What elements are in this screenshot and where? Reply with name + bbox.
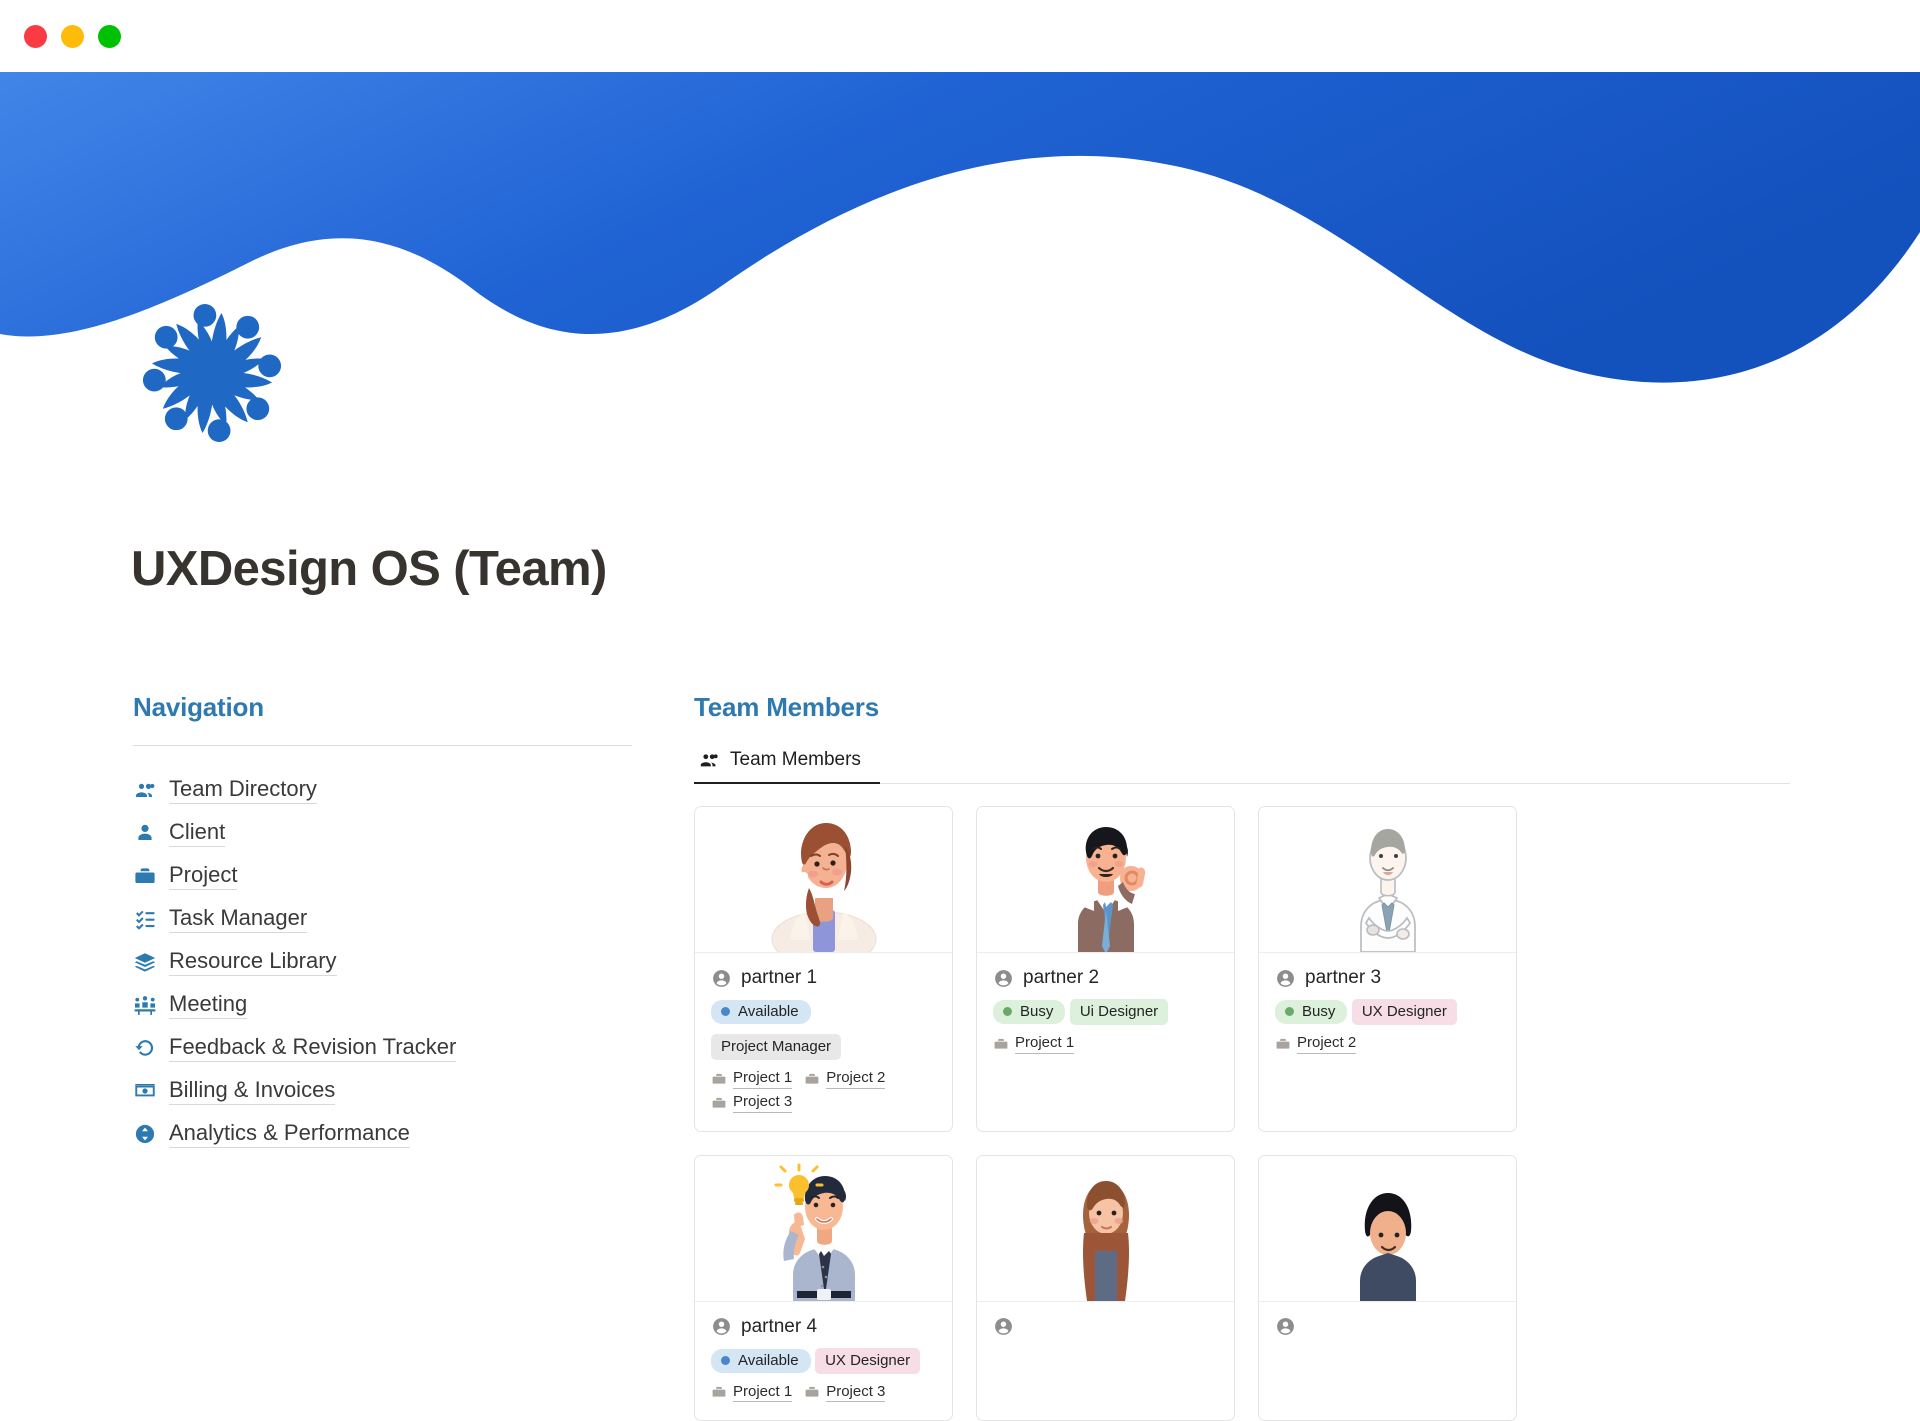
member-name: partner 1 [741,967,817,989]
person-icon [133,821,157,845]
sidebar-item-label: Meeting [169,990,247,1020]
status-dot [1003,1007,1012,1016]
project-links: Project 2 [1275,1034,1500,1054]
status-label: Available [738,1003,799,1020]
man-lightbulb-idea-avatar-icon [749,1155,899,1301]
checklist-icon [133,907,157,931]
project-links: Project 1 [993,1034,1218,1054]
member-card[interactable] [976,1155,1235,1421]
tab-label: Team Members [730,749,861,771]
sidebar-item-label: Team Directory [169,775,317,805]
navigation-heading: Navigation [133,692,633,723]
account-circle-icon [711,1316,732,1337]
account-circle-icon [1275,968,1296,989]
member-identity: partner 4 [711,1316,936,1338]
member-card-body: partner 1 Available Project Manager Proj… [695,953,952,1131]
member-card-body [977,1302,1234,1355]
member-name: partner 2 [1023,967,1099,989]
performance-circle-icon [133,1122,157,1146]
account-circle-icon [1275,1316,1296,1337]
sidebar-item-label: Project [169,861,237,891]
member-name: partner 4 [741,1316,817,1338]
member-card-grid: partner 1 Available Project Manager Proj… [694,806,1790,1421]
status-dot [1285,1007,1294,1016]
role-label: UX Designer [1362,1003,1447,1020]
project-link[interactable]: Project 2 [804,1069,885,1089]
role-label: UX Designer [825,1352,910,1369]
status-badge: Busy [993,1000,1065,1024]
member-card[interactable] [1258,1155,1517,1421]
meeting-table-icon [133,993,157,1017]
project-link-label: Project 1 [1015,1034,1074,1054]
member-card-body: partner 4 Available UX Designer Project … [695,1302,952,1421]
sidebar-item-resource-library[interactable]: Resource Library [133,940,633,983]
status-dot [721,1356,730,1365]
close-button[interactable] [24,25,47,48]
member-identity: partner 1 [711,967,936,989]
banknote-icon [133,1079,157,1103]
project-link[interactable]: Project 1 [993,1034,1074,1054]
avatar [695,1156,952,1302]
project-link-label: Project 1 [733,1383,792,1403]
tab-bar: Team Members [694,743,1790,784]
role-label: Project Manager [721,1038,831,1055]
status-label: Available [738,1352,799,1369]
role-tag: Project Manager [711,1034,841,1060]
member-name: partner 3 [1305,967,1381,989]
sidebar-item-label: Resource Library [169,947,337,977]
sidebar-item-label: Analytics & Performance [169,1119,410,1149]
navigation-panel: Navigation Team Directory Client Project [133,692,633,1155]
member-card-body: partner 2 Busy Ui Designer Project 1 [977,953,1234,1072]
avatar [1259,1156,1516,1302]
member-identity: partner 2 [993,967,1218,989]
sidebar-item-client[interactable]: Client [133,811,633,854]
tab-active-indicator [694,782,880,784]
team-members-panel: Team Members Team Members [694,692,1790,1421]
member-identity [1275,1316,1500,1337]
member-card[interactable]: partner 2 Busy Ui Designer Project 1 [976,806,1235,1132]
role-tag: UX Designer [1352,999,1457,1025]
status-dot [721,1007,730,1016]
member-card-body: partner 3 Busy UX Designer Project 2 [1259,953,1516,1072]
project-link[interactable]: Project 3 [804,1383,885,1403]
project-links: Project 1Project 3 [711,1383,936,1403]
sidebar-item-feedback-revision-tracker[interactable]: Feedback & Revision Tracker [133,1026,633,1069]
account-circle-icon [711,968,732,989]
sidebar-item-label: Task Manager [169,904,307,934]
project-link-label: Project 2 [1297,1034,1356,1054]
sidebar-item-task-manager[interactable]: Task Manager [133,897,633,940]
status-label: Busy [1020,1003,1053,1020]
avatar [1259,807,1516,953]
project-link-label: Project 3 [733,1093,792,1113]
account-circle-icon [993,968,1014,989]
zoom-button[interactable] [98,25,121,48]
avatar [977,807,1234,953]
project-link-label: Project 1 [733,1069,792,1089]
member-card-body [1259,1302,1516,1355]
man-ok-gesture-avatar-icon [1031,806,1181,952]
sidebar-item-label: Client [169,818,225,848]
member-card[interactable]: partner 1 Available Project Manager Proj… [694,806,953,1132]
project-link[interactable]: Project 3 [711,1093,792,1113]
role-label: Ui Designer [1080,1003,1158,1020]
avatar [977,1156,1234,1302]
project-link-label: Project 2 [826,1069,885,1089]
page-content: UXDesign OS (Team) Navigation Team Direc… [0,72,1920,1200]
sidebar-item-team-directory[interactable]: Team Directory [133,768,633,811]
navigation-divider [133,745,632,746]
people-group-icon [698,749,720,771]
role-tag: UX Designer [815,1348,920,1374]
page-title: UXDesign OS (Team) [131,541,607,597]
revision-arrow-icon [133,1036,157,1060]
sidebar-item-label: Billing & Invoices [169,1076,335,1106]
status-label: Busy [1302,1003,1335,1020]
sidebar-item-label: Feedback & Revision Tracker [169,1033,456,1063]
project-link-label: Project 3 [826,1383,885,1403]
member-card[interactable]: partner 4 Available UX Designer Project … [694,1155,953,1421]
dark-hair-person-avatar-icon [1313,1155,1463,1301]
team-members-heading: Team Members [694,692,1790,723]
project-link[interactable]: Project 1 [711,1383,792,1403]
line-art-man-arms-crossed-avatar-icon [1313,806,1463,952]
member-identity: partner 3 [1275,967,1500,989]
member-card[interactable]: partner 3 Busy UX Designer Project 2 [1258,806,1517,1132]
app-logo [133,294,291,452]
woman-brown-hair-avatar-icon [1031,1155,1181,1301]
minimize-button[interactable] [61,25,84,48]
layers-icon [133,950,157,974]
status-badge: Busy [1275,1000,1347,1024]
avatar [695,807,952,953]
project-links: Project 1Project 2Project 3 [711,1069,936,1113]
status-badge: Available [711,1349,811,1373]
briefcase-icon [133,864,157,888]
sidebar-item-analytics-performance[interactable]: Analytics & Performance [133,1112,633,1155]
woman-auburn-hair-avatar-icon [749,806,899,952]
project-link[interactable]: Project 1 [711,1069,792,1089]
project-link[interactable]: Project 2 [1275,1034,1356,1054]
member-identity [993,1316,1218,1337]
account-circle-icon [993,1316,1014,1337]
role-tag: Ui Designer [1070,999,1168,1025]
sidebar-item-billing-invoices[interactable]: Billing & Invoices [133,1069,633,1112]
window-titlebar [0,0,1920,72]
people-group-icon [133,778,157,802]
sidebar-item-project[interactable]: Project [133,854,633,897]
tab-team-members[interactable]: Team Members [694,743,875,783]
status-badge: Available [711,1000,811,1024]
team-pinwheel-logo-icon [133,294,291,452]
sidebar-item-meeting[interactable]: Meeting [133,983,633,1026]
navigation-list: Team Directory Client Project Task Manag… [133,768,633,1155]
